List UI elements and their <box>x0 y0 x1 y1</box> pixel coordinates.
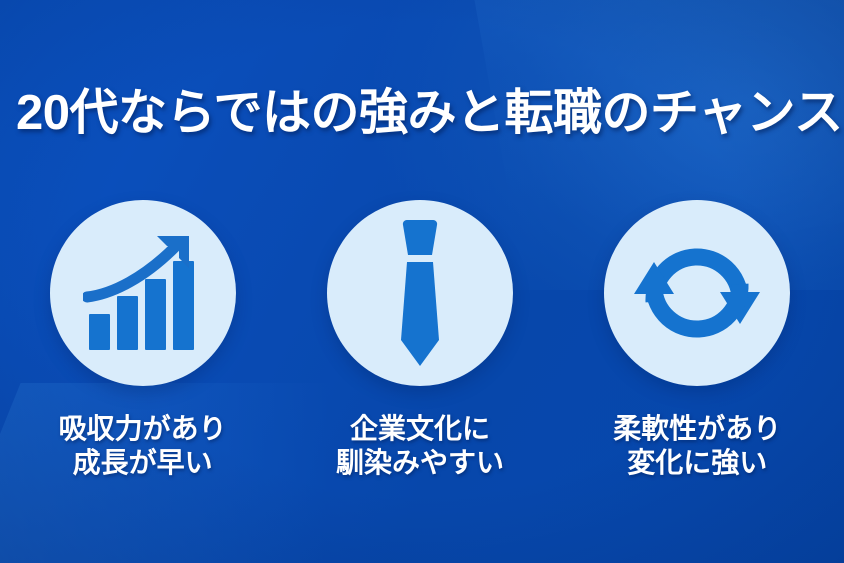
feature-column-growth: 吸収力があり 成長が早い <box>12 200 274 480</box>
caption-line-2: 成長が早い <box>59 446 227 480</box>
feature-column-flexibility: 柔軟性があり 変化に強い <box>566 200 828 480</box>
feature-columns: 吸収力があり 成長が早い 企業文化に 馴染みやすい <box>0 200 844 480</box>
feature-column-culture: 企業文化に 馴染みやすい <box>289 200 551 480</box>
growth-chart-icon <box>83 234 203 352</box>
icon-circle-refresh <box>604 200 790 386</box>
necktie-icon <box>387 218 453 368</box>
icon-circle-necktie <box>327 200 513 386</box>
caption-line-1: 吸収力があり <box>59 412 227 446</box>
slide-title: 20代ならではの強みと転職のチャンス <box>16 83 832 143</box>
caption-line-2: 馴染みやすい <box>336 446 504 480</box>
caption-line-1: 柔軟性があり <box>613 412 781 446</box>
refresh-cycle-icon <box>634 232 760 354</box>
feature-caption-growth: 吸収力があり 成長が早い <box>59 412 227 480</box>
caption-line-2: 変化に強い <box>613 446 781 480</box>
feature-caption-culture: 企業文化に 馴染みやすい <box>336 412 504 480</box>
icon-circle-growth <box>50 200 236 386</box>
slide-root: 20代ならではの強みと転職のチャンス 吸収力があり 成長が早い <box>0 0 844 563</box>
feature-caption-flexibility: 柔軟性があり 変化に強い <box>613 412 781 480</box>
caption-line-1: 企業文化に <box>336 412 504 446</box>
